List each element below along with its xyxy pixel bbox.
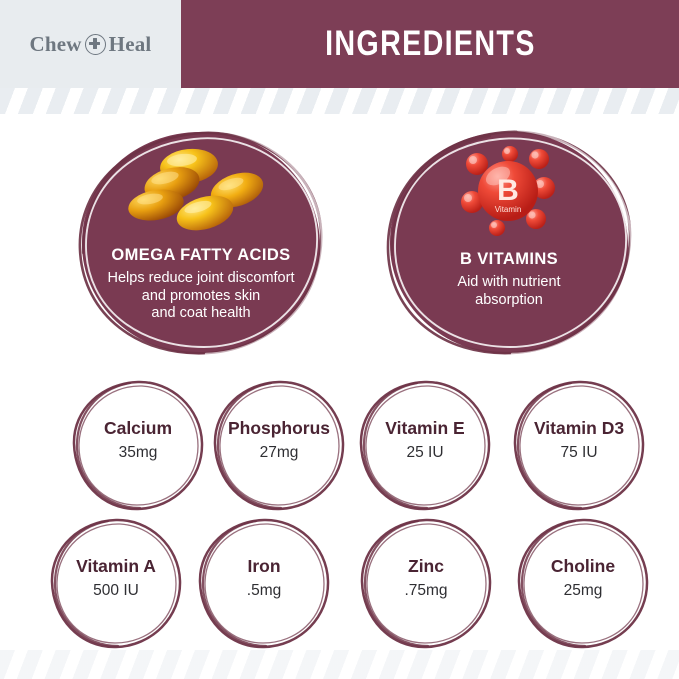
nutrient-label-block: Vitamin A500 IU xyxy=(48,557,184,599)
feature-desc-line: and coat health xyxy=(88,305,314,323)
nutrient-circle-vitamin-d3: Vitamin D375 IU xyxy=(511,377,647,513)
bottom-stripe-band xyxy=(0,650,679,679)
nutrient-name: Choline xyxy=(515,557,651,576)
nutrient-label-block: Iron.5mg xyxy=(196,557,332,599)
nutrient-name: Calcium xyxy=(70,419,206,438)
nutrient-amount: .75mg xyxy=(358,582,494,599)
omega-softgel-capsules-icon xyxy=(126,144,276,244)
nutrient-label-block: Vitamin D375 IU xyxy=(511,419,647,461)
nutrient-circle-calcium: Calcium35mg xyxy=(70,377,206,513)
nutrient-name: Vitamin E xyxy=(357,419,493,438)
nutrient-name: Phosphorus xyxy=(211,419,347,438)
nutrient-name: Zinc xyxy=(358,557,494,576)
feature-description: Helps reduce joint discomfort and promot… xyxy=(88,270,314,323)
brand-logo-panel: Chew Heal xyxy=(0,0,181,88)
page-title: INGREDIENTS xyxy=(325,24,536,64)
nutrient-label-block: Vitamin E25 IU xyxy=(357,419,493,461)
feature-text-block: OMEGA FATTY ACIDS Helps reduce joint dis… xyxy=(88,246,314,323)
nutrient-amount: 35mg xyxy=(70,444,206,461)
nutrient-amount: 500 IU xyxy=(48,582,184,599)
feature-description: Aid with nutrient absorption xyxy=(396,274,622,309)
brand-logo: Chew Heal xyxy=(30,34,152,55)
nutrient-amount: 25 IU xyxy=(357,444,493,461)
feature-desc-line: Helps reduce joint discomfort xyxy=(88,270,314,288)
svg-text:Vitamin: Vitamin xyxy=(495,205,522,214)
feature-title: B VITAMINS xyxy=(396,250,622,269)
nutrient-circle-choline: Choline25mg xyxy=(515,515,651,651)
nutrient-circle-vitamin-e: Vitamin E25 IU xyxy=(357,377,493,513)
feature-title: OMEGA FATTY ACIDS xyxy=(88,246,314,265)
brand-name-right: Heal xyxy=(109,34,152,55)
nutrient-name: Vitamin D3 xyxy=(511,419,647,438)
top-stripe-band xyxy=(0,88,679,114)
b-vitamin-molecule-icon: B Vitamin xyxy=(439,140,579,246)
feature-text-block: B VITAMINS Aid with nutrient absorption xyxy=(396,250,622,309)
nutrient-circle-zinc: Zinc.75mg xyxy=(358,515,494,651)
brand-name-left: Chew xyxy=(30,34,82,55)
nutrient-circle-phosphorus: Phosphorus27mg xyxy=(211,377,347,513)
ingredients-infographic: Chew Heal INGREDIENTS xyxy=(0,0,679,679)
title-bar: INGREDIENTS xyxy=(181,0,679,88)
feature-card-omega-fatty-acids: OMEGA FATTY ACIDS Helps reduce joint dis… xyxy=(74,126,328,359)
header: Chew Heal INGREDIENTS xyxy=(0,0,679,88)
nutrient-label-block: Zinc.75mg xyxy=(358,557,494,599)
nutrient-amount: 75 IU xyxy=(511,444,647,461)
nutrient-label-block: Calcium35mg xyxy=(70,419,206,461)
plus-in-circle-icon xyxy=(85,34,106,55)
nutrient-amount: .5mg xyxy=(196,582,332,599)
nutrient-circle-vitamin-a: Vitamin A500 IU xyxy=(48,515,184,651)
feature-desc-line: Aid with nutrient xyxy=(396,274,622,292)
feature-desc-line: and promotes skin xyxy=(88,288,314,306)
svg-text:B: B xyxy=(497,174,519,207)
nutrient-label-block: Choline25mg xyxy=(515,557,651,599)
feature-desc-line: absorption xyxy=(396,292,622,310)
nutrient-circle-iron: Iron.5mg xyxy=(196,515,332,651)
feature-card-b-vitamins: B Vitamin B VITAMINS Aid with nutrient a… xyxy=(382,126,636,359)
nutrient-name: Iron xyxy=(196,557,332,576)
nutrient-label-block: Phosphorus27mg xyxy=(211,419,347,461)
nutrient-name: Vitamin A xyxy=(48,557,184,576)
nutrient-amount: 27mg xyxy=(211,444,347,461)
nutrient-amount: 25mg xyxy=(515,582,651,599)
